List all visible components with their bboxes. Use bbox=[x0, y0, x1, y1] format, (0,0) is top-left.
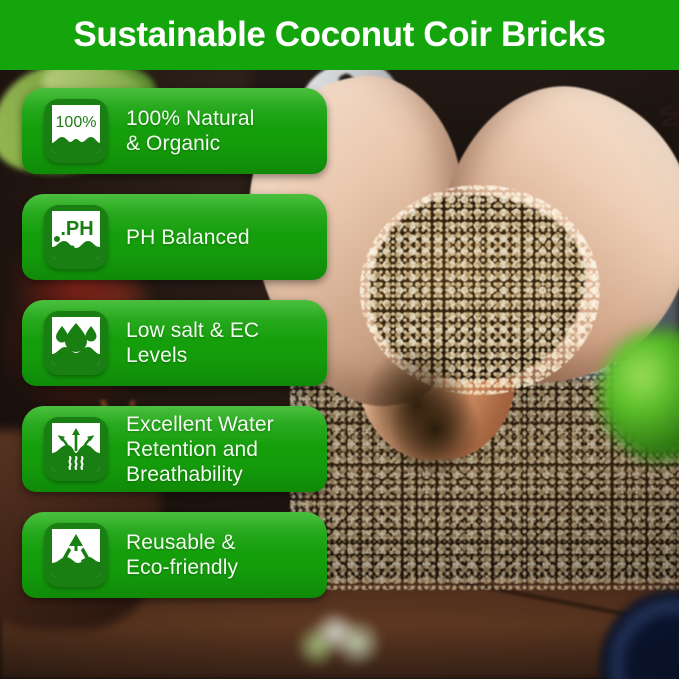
badge-label: PH Balanced bbox=[126, 225, 250, 250]
ph-balanced-icon: .PH bbox=[44, 205, 108, 269]
feature-badge-water-retention[interactable]: Excellent Water Retention and Breathabil… bbox=[0, 406, 400, 492]
badge-label: Reusable & Eco-friendly bbox=[126, 530, 238, 580]
badge-label: Low salt & EC Levels bbox=[126, 318, 259, 368]
header-banner: Sustainable Coconut Coir Bricks bbox=[0, 0, 679, 70]
svg-text:100%: 100% bbox=[56, 114, 97, 131]
feature-badge-reusable-eco[interactable]: Reusable & Eco-friendly bbox=[0, 512, 400, 598]
upward-arrows-breathability-icon bbox=[44, 417, 108, 481]
badge-label: Excellent Water Retention and Breathabil… bbox=[126, 412, 274, 487]
feature-badge-list: 100% 100% Natural & Organic .PH PH Balan… bbox=[0, 88, 400, 618]
feature-badge-natural-organic[interactable]: 100% 100% Natural & Organic bbox=[0, 88, 400, 174]
svg-text:.PH: .PH bbox=[60, 218, 93, 240]
water-droplets-icon bbox=[44, 311, 108, 375]
badge-label: 100% Natural & Organic bbox=[126, 106, 254, 156]
feature-badge-ph-balanced[interactable]: .PH PH Balanced bbox=[0, 194, 400, 280]
feature-badge-low-salt-ec[interactable]: Low salt & EC Levels bbox=[0, 300, 400, 386]
recycle-icon bbox=[44, 523, 108, 587]
hundred-percent-natural-icon: 100% bbox=[44, 99, 108, 163]
page-title: Sustainable Coconut Coir Bricks bbox=[73, 15, 605, 55]
